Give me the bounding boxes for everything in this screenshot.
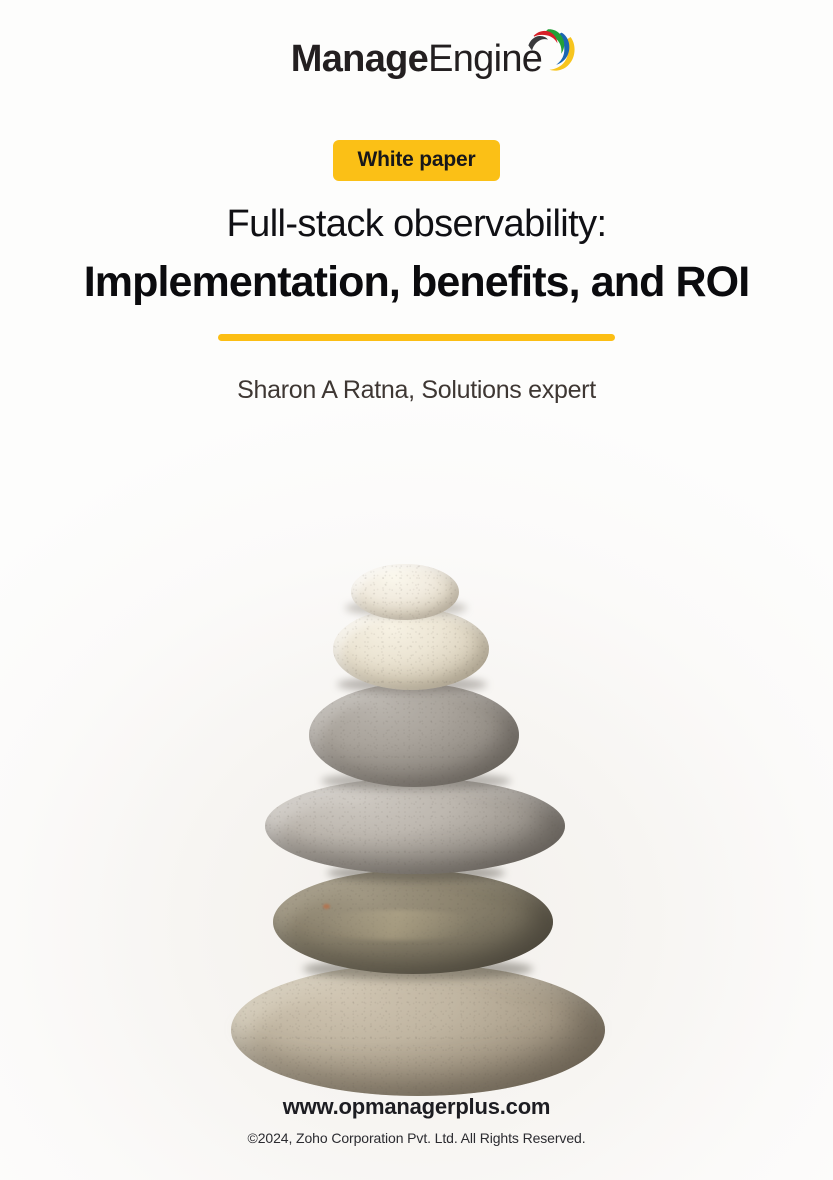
stone-1-top-cream [351, 564, 459, 620]
page-footer: www.opmanagerplus.com ©2024, Zoho Corpor… [0, 1094, 833, 1146]
cover-artwork [0, 440, 833, 1060]
website-url[interactable]: www.opmanagerplus.com [0, 1094, 833, 1120]
author-byline: Sharon A Ratna, Solutions expert [0, 376, 833, 405]
logo-wordmark-bold: Manage [291, 40, 428, 78]
manageengine-swirl-logo-icon [524, 28, 576, 78]
brand-logo: ManageEngine [0, 40, 833, 78]
balanced-stone-cairn-illustration [217, 440, 617, 1060]
copyright-notice: ©2024, Zoho Corporation Pvt. Ltd. All Ri… [0, 1130, 833, 1146]
author-row: Sharon A Ratna, Solutions expert [0, 376, 833, 405]
title-line-1: Full-stack observability: [0, 203, 833, 247]
stone-2-cream [333, 608, 489, 690]
logo-lockup: ManageEngine [291, 40, 542, 78]
stone-6-base [231, 964, 605, 1096]
yellow-divider-rule [218, 334, 615, 341]
document-type-badge-row: White paper [0, 140, 833, 181]
whitepaper-cover-page: ManageEngine White paper [0, 0, 833, 1180]
title-divider-row [0, 334, 833, 341]
title-line-2: Implementation, benefits, and ROI [0, 257, 833, 308]
stone-3-grey [309, 683, 519, 787]
stone-5-fleck [323, 904, 330, 909]
white-paper-badge: White paper [333, 140, 501, 181]
stone-5-vein [309, 910, 489, 940]
page-title: Full-stack observability: Implementation… [0, 203, 833, 307]
stone-4-wide-grey [265, 778, 565, 874]
